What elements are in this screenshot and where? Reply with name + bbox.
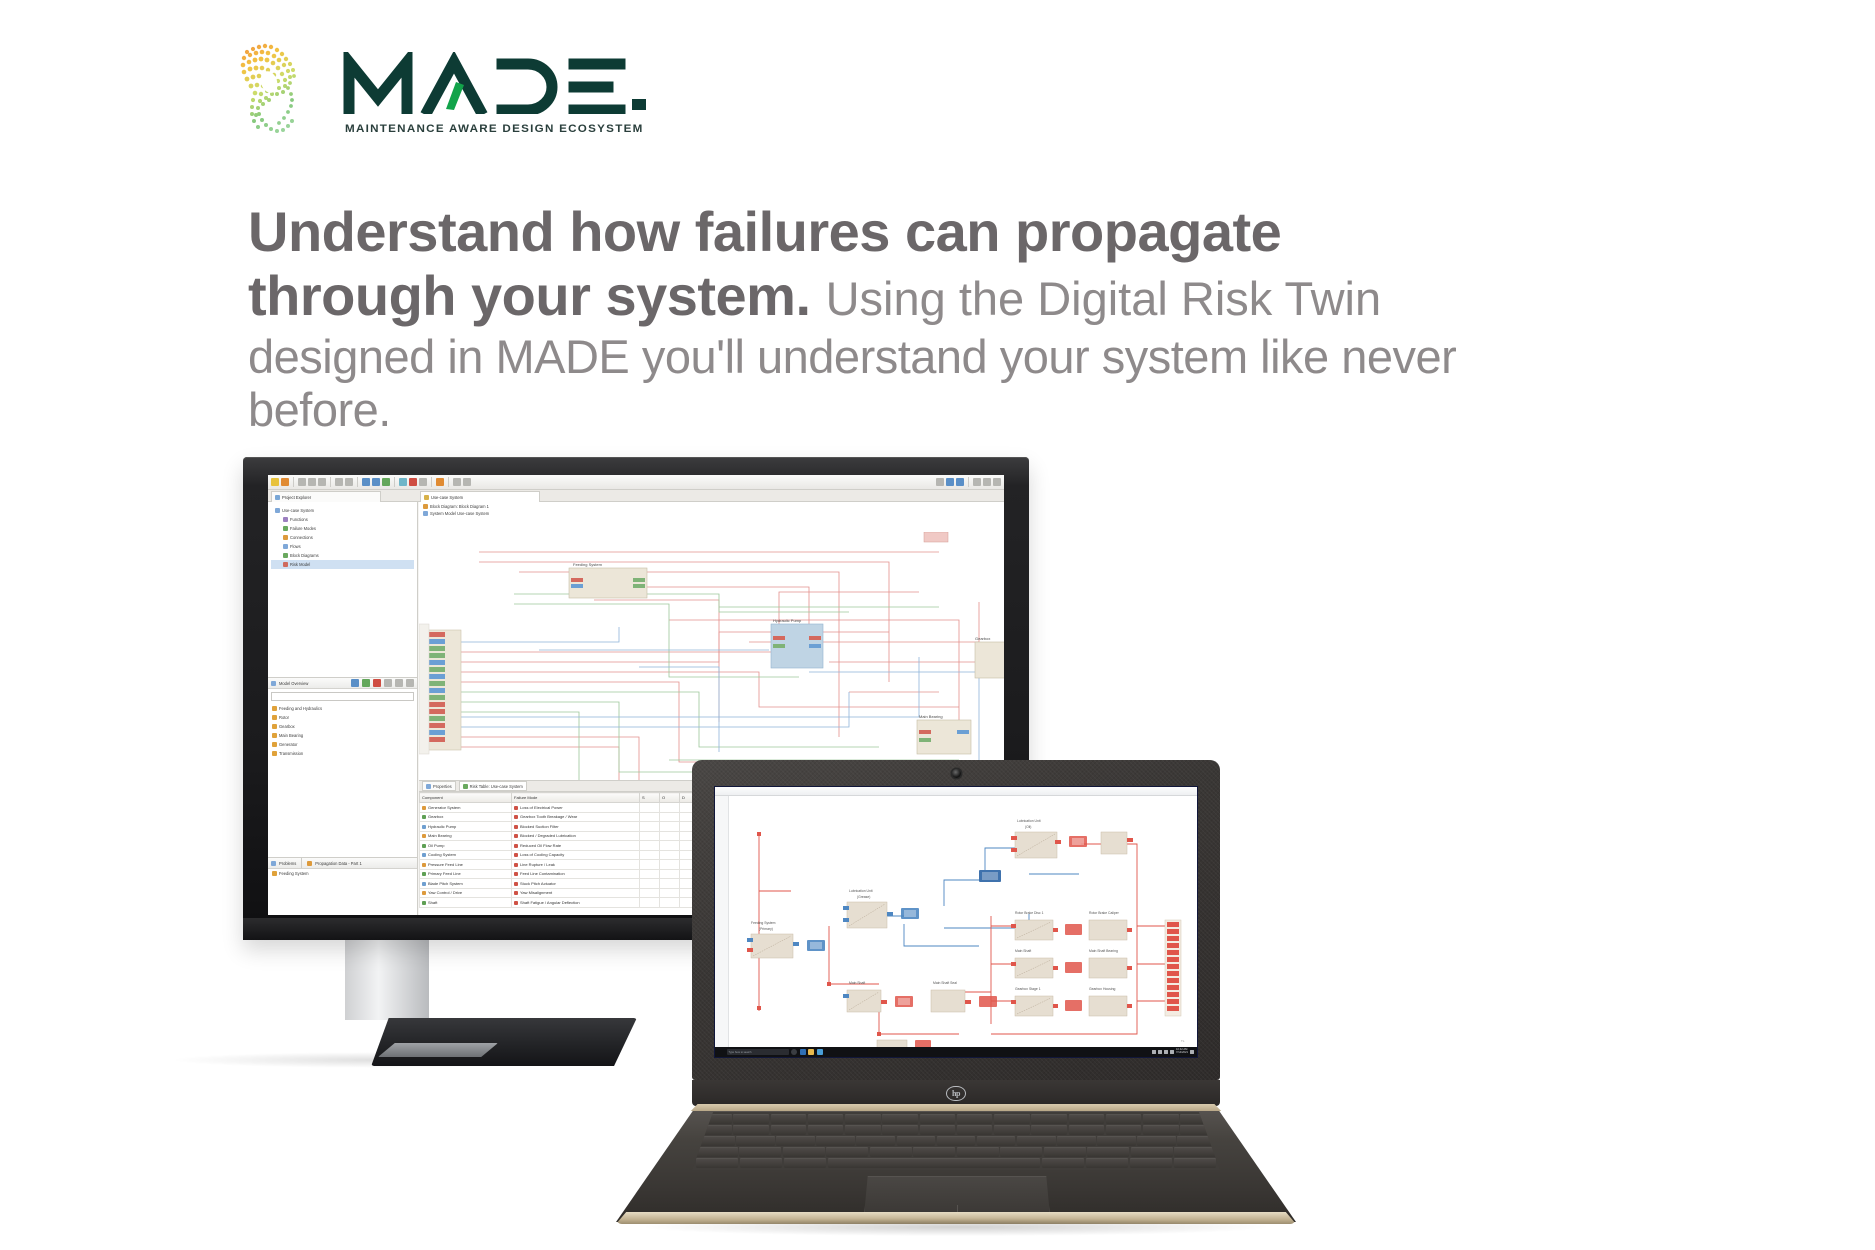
cell-component: Generator System xyxy=(420,803,512,813)
diagram-icon xyxy=(423,504,428,509)
component-icon xyxy=(422,891,426,895)
svg-text:Lubrication Unit: Lubrication Unit xyxy=(1017,819,1041,823)
failure-icon xyxy=(514,853,518,857)
problems-icon xyxy=(271,861,276,866)
folder-icon xyxy=(272,706,277,711)
warning-icon[interactable] xyxy=(436,478,444,486)
made-logo: MAINTENANCE AWARE DESIGN ECOSYSTEM xyxy=(222,30,652,145)
node-row: Main Shaft Main Shaft Bearing xyxy=(1011,949,1132,978)
node: Main Shaft xyxy=(843,981,887,1012)
cell-component: Cooling System xyxy=(420,850,512,860)
save-icon[interactable] xyxy=(281,478,289,486)
cell-component: Shaft xyxy=(420,898,512,908)
component-icon xyxy=(422,882,426,886)
layout-icon[interactable] xyxy=(351,679,359,687)
tree-item[interactable]: Flows xyxy=(271,542,414,551)
gate xyxy=(979,870,1001,882)
search-icon[interactable] xyxy=(453,478,461,486)
svg-text:Main Shaft Bearing: Main Shaft Bearing xyxy=(1089,949,1118,953)
svg-text:(Oil): (Oil) xyxy=(1025,825,1031,829)
risk-twin-app: Lubrication Unit(Oil) xyxy=(715,787,1197,1057)
toolbar-divider xyxy=(330,477,331,487)
tab-problems[interactable]: Problems xyxy=(279,861,296,866)
cortana-icon[interactable] xyxy=(791,1049,797,1055)
model-overview-header: Model Overview xyxy=(268,678,417,689)
tab-use-case-system[interactable]: Use-case System xyxy=(420,491,540,502)
list-item-label: Generator xyxy=(279,742,297,747)
svg-text:(Primary): (Primary) xyxy=(759,927,773,931)
made-gradient-leaf-mark-icon xyxy=(222,30,327,138)
component-icon xyxy=(422,853,426,857)
failure-icon xyxy=(514,901,518,905)
list-item[interactable]: Transmission xyxy=(268,749,417,758)
port-stack xyxy=(1165,920,1181,1016)
component-icon xyxy=(422,863,426,867)
laptop-screen: Lubrication Unit(Oil) xyxy=(714,786,1198,1058)
component-icon xyxy=(422,806,426,810)
action-center-icon[interactable] xyxy=(1190,1050,1194,1054)
tree-item[interactable]: Block Diagrams xyxy=(271,551,414,560)
cell-component: Blade Pitch System xyxy=(420,879,512,889)
headline-subtext-1: Using the Digital Risk Twin xyxy=(826,272,1382,325)
monitor-base-highlight xyxy=(378,1043,498,1057)
properties-footer-panel: Problems Propagation Data - Part 1 Feedi… xyxy=(268,857,417,915)
keyboard-row xyxy=(696,1158,1216,1168)
laptop-deck-top-edge xyxy=(616,1104,1296,1111)
gate xyxy=(1069,836,1087,847)
tree-item-label: Failure Modes xyxy=(290,526,316,531)
overview-icon xyxy=(271,681,276,686)
cell-component: Oil Pump xyxy=(420,841,512,851)
cell-component: Hydraulic Pump xyxy=(420,822,512,832)
add-icon[interactable] xyxy=(362,679,370,687)
folder-icon xyxy=(272,751,277,756)
redo-icon[interactable] xyxy=(318,478,326,486)
component-icon xyxy=(422,844,426,848)
component-icon xyxy=(422,872,426,876)
diagram-icon xyxy=(424,495,429,500)
node: Lubrication Unit(Grease) xyxy=(843,889,893,928)
folder-icon xyxy=(272,715,277,720)
diagram-icon xyxy=(283,553,288,558)
debug-icon[interactable] xyxy=(372,478,380,486)
block-diagram-canvas[interactable]: Feeding System Hydraulic Pump xyxy=(419,532,1004,780)
collapse-icon[interactable] xyxy=(395,679,403,687)
component-icon xyxy=(422,815,426,819)
node xyxy=(1101,832,1133,854)
gate xyxy=(807,940,825,951)
list-item-label: Feeding System xyxy=(279,871,309,876)
laptop-bezel-chin: hp xyxy=(692,1080,1220,1106)
list-item[interactable]: Main Bearing xyxy=(268,731,417,740)
keyboard-row xyxy=(696,1114,1216,1124)
failure-icon xyxy=(514,882,518,886)
ide-toolbar[interactable] xyxy=(268,475,1004,490)
monitor-base xyxy=(371,1018,637,1066)
toolbar-divider xyxy=(448,477,449,487)
tree-item-label: Block Diagrams xyxy=(290,553,319,558)
task-view-icon[interactable] xyxy=(800,1049,806,1055)
headline-line-2: through your system. xyxy=(248,264,811,327)
page-title: Understand how failures can propagate th… xyxy=(248,200,1608,437)
more-icon[interactable] xyxy=(993,478,1001,486)
risk-icon xyxy=(283,562,288,567)
laptop-shadow xyxy=(646,1218,1266,1236)
failure-icon xyxy=(283,526,288,531)
battery-icon[interactable] xyxy=(1170,1050,1174,1054)
svg-text:(Grease): (Grease) xyxy=(857,895,870,899)
cell-component: Pressure Feed Line xyxy=(420,860,512,870)
made-tagline: MAINTENANCE AWARE DESIGN ECOSYSTEM xyxy=(345,123,644,135)
keyboard-row xyxy=(696,1136,1216,1146)
layout-icon[interactable] xyxy=(946,478,954,486)
project-explorer-panel: Use-case System Functions Failure Modes xyxy=(268,502,418,915)
breadcrumb-row: System Model Use-case System xyxy=(423,511,1000,516)
toolbar-divider xyxy=(357,477,358,487)
svg-text:Main Shaft: Main Shaft xyxy=(1015,949,1031,953)
list-item-label: Transmission xyxy=(279,751,303,756)
folder-icon xyxy=(272,733,277,738)
breadcrumb: Block Diagram: Block Diagram 1 System Mo… xyxy=(419,502,1004,518)
link-icon[interactable] xyxy=(384,679,392,687)
app-toolbar[interactable] xyxy=(715,787,1197,796)
project-tree: Use-case System Functions Failure Modes xyxy=(268,502,417,573)
breadcrumb-row: Block Diagram: Block Diagram 1 xyxy=(423,504,1000,509)
list-item-label: Feeding and Hydraulics xyxy=(279,706,322,711)
list-item[interactable]: Gearbox xyxy=(268,722,417,731)
perspective-icon[interactable] xyxy=(936,478,944,486)
run-icon[interactable] xyxy=(382,478,390,486)
svg-text:Gearbox Stage 1: Gearbox Stage 1 xyxy=(1015,987,1041,991)
propagation-diagram-canvas[interactable]: Lubrication Unit(Oil) xyxy=(729,796,1197,1047)
model-overview-panel: Model Overview Feeding and xyxy=(268,677,417,857)
made-wordmark xyxy=(342,52,652,114)
toolbar-divider xyxy=(968,477,969,487)
spacebar-key xyxy=(828,1158,1040,1168)
folder-icon xyxy=(272,742,277,747)
stop-icon[interactable] xyxy=(409,478,417,486)
tree-item-label: Flows xyxy=(290,544,301,549)
svg-text:Main Shaft: Main Shaft xyxy=(849,981,865,985)
cell-component: Main Bearing xyxy=(420,831,512,841)
delete-icon[interactable] xyxy=(373,679,381,687)
list-item[interactable]: Feeding and Hydraulics xyxy=(268,704,417,713)
failure-icon xyxy=(514,872,518,876)
gate xyxy=(895,996,913,1007)
node xyxy=(877,1040,931,1047)
hp-logo-icon: hp xyxy=(946,1086,966,1101)
chevron-up-icon[interactable] xyxy=(1152,1050,1156,1054)
svg-text:Rotor Brake Caliper: Rotor Brake Caliper xyxy=(1089,911,1120,915)
function-icon xyxy=(283,517,288,522)
svg-text:Main Shaft Seal: Main Shaft Seal xyxy=(933,981,957,985)
component-icon xyxy=(422,825,426,829)
tab-label: Use-case System xyxy=(431,495,463,500)
slide-root: MAINTENANCE AWARE DESIGN ECOSYSTEM Under… xyxy=(0,0,1875,1250)
failure-icon xyxy=(514,834,518,838)
cell-component: Primary Feed Line xyxy=(420,869,512,879)
grid-icon[interactable] xyxy=(983,478,991,486)
tree-item-label: Connections xyxy=(290,535,313,540)
laptop-keyboard[interactable] xyxy=(692,1112,1220,1170)
failure-icon xyxy=(514,825,518,829)
properties-icon xyxy=(426,784,431,789)
breadcrumb-label: Block Diagram: Block Diagram 1 xyxy=(430,504,489,509)
keyboard-row xyxy=(696,1147,1216,1157)
toolbar-divider xyxy=(431,477,432,487)
list-item-label: Rotor xyxy=(279,715,289,720)
filter-icon[interactable] xyxy=(973,478,981,486)
svg-text:Rotor Brake Disc 1: Rotor Brake Disc 1 xyxy=(1015,911,1044,915)
node: Feeding System(Primary) xyxy=(747,921,799,958)
headline-subtext-2: designed in MADE you'll understand your … xyxy=(248,330,1608,437)
svg-text:Gearbox Housing: Gearbox Housing xyxy=(1089,987,1116,991)
tree-item[interactable]: Functions xyxy=(271,515,414,524)
node-label: Feeding System xyxy=(573,562,603,567)
zoom-icon[interactable] xyxy=(956,478,964,486)
failure-icon xyxy=(514,806,518,810)
list-item-label: Gearbox xyxy=(279,724,295,729)
tree-item[interactable]: Failure Modes xyxy=(271,524,414,533)
volume-icon[interactable] xyxy=(1164,1050,1168,1054)
node-label: Hydraulic Pump xyxy=(773,618,802,623)
laptop-lid: Lubrication Unit(Oil) xyxy=(692,760,1220,1080)
folder-icon xyxy=(272,724,277,729)
footer-tabbar: Problems Propagation Data - Part 1 xyxy=(268,858,417,869)
svg-text:TL: TL xyxy=(1181,1039,1185,1043)
model-overview-search-input[interactable] xyxy=(271,692,414,701)
tree-item-label: Use-case System xyxy=(282,508,314,513)
tree-item-risk-model[interactable]: Risk Model xyxy=(271,560,414,569)
tab-label: Properties xyxy=(433,784,452,789)
cell-component: Gearbox xyxy=(420,812,512,822)
ide-tab-row: Project Explorer Use-case System xyxy=(268,490,1004,502)
hp-laptop: Lubrication Unit(Oil) xyxy=(606,760,1306,1250)
taskbar-search-input[interactable]: Type here to search xyxy=(727,1049,789,1056)
laptop-trackpad[interactable] xyxy=(864,1176,1050,1216)
menu-icon[interactable] xyxy=(406,679,414,687)
network-icon[interactable] xyxy=(1158,1050,1162,1054)
propagation-icon xyxy=(307,861,312,866)
webcam-icon xyxy=(952,769,961,778)
undo-icon[interactable] xyxy=(308,478,316,486)
table-icon xyxy=(463,784,468,789)
keyboard-row xyxy=(696,1125,1216,1135)
tree-item-label: Risk Model xyxy=(290,562,310,567)
model-icon xyxy=(423,511,428,516)
svg-text:Lubrication Unit: Lubrication Unit xyxy=(849,889,873,893)
tree-item-label: Functions xyxy=(290,517,308,522)
taskbar-tray[interactable]: 10:42 AM 7/14/2021 xyxy=(1152,1049,1194,1055)
taskbar-date[interactable]: 7/14/2021 xyxy=(1176,1052,1188,1055)
toolbar-divider xyxy=(394,477,395,487)
flow-icon xyxy=(283,544,288,549)
list-item[interactable]: Feeding System xyxy=(268,869,417,878)
print-icon[interactable] xyxy=(298,478,306,486)
svg-text:Feeding System: Feeding System xyxy=(751,921,776,925)
column-header-component[interactable]: Component xyxy=(420,793,512,803)
tree-item[interactable]: Use-case System xyxy=(271,506,414,515)
marker-icon[interactable] xyxy=(419,478,427,486)
node-label: Gearbox xyxy=(975,636,990,641)
build-icon[interactable] xyxy=(362,478,370,486)
cell-component: Yaw Control / Drive xyxy=(420,888,512,898)
store-icon[interactable] xyxy=(817,1049,823,1055)
panel-title: Model Overview xyxy=(279,681,308,686)
copy-icon[interactable] xyxy=(345,478,353,486)
failure-icon xyxy=(514,815,518,819)
chevron-down-icon[interactable] xyxy=(463,478,471,486)
refresh-icon[interactable] xyxy=(399,478,407,486)
app-sidebar[interactable] xyxy=(715,796,729,1047)
headline-line-1: Understand how failures can propagate xyxy=(248,200,1281,263)
breadcrumb-label: System Model Use-case System xyxy=(430,511,489,516)
tab-properties[interactable]: Properties xyxy=(422,781,456,791)
tab-project-explorer[interactable]: Project Explorer xyxy=(271,491,381,502)
gate xyxy=(901,908,919,919)
windows-start-icon[interactable] xyxy=(718,1049,724,1055)
failure-icon xyxy=(514,863,518,867)
list-item[interactable]: Rotor xyxy=(268,713,417,722)
tab-propagation-data[interactable]: Propagation Data - Part 1 xyxy=(315,861,361,866)
project-icon xyxy=(275,508,280,513)
windows-taskbar[interactable]: Type here to search 10:42 AM xyxy=(715,1047,1197,1057)
explorer-icon xyxy=(275,495,280,500)
new-icon[interactable] xyxy=(271,478,279,486)
component-icon xyxy=(422,834,426,838)
tab-risk-table[interactable]: Risk Table: Use-case System xyxy=(459,781,527,791)
connection-icon xyxy=(283,535,288,540)
node-label: Main Bearing xyxy=(919,714,943,719)
explorer-icon[interactable] xyxy=(808,1049,814,1055)
list-item-label: Main Bearing xyxy=(279,733,303,738)
tab-label: Project Explorer xyxy=(282,495,311,500)
tab-label: Risk Table: Use-case System xyxy=(470,784,523,789)
tree-item[interactable]: Connections xyxy=(271,533,414,542)
list-item[interactable]: Generator xyxy=(268,740,417,749)
cut-icon[interactable] xyxy=(335,478,343,486)
gate xyxy=(979,996,997,1007)
monitor-neck xyxy=(345,940,429,1020)
search-placeholder: Type here to search xyxy=(729,1051,752,1054)
toolbar-divider xyxy=(293,477,294,487)
node-row: Gearbox Stage 1 Gearbox Housing xyxy=(1011,987,1132,1016)
failure-icon xyxy=(514,844,518,848)
component-icon xyxy=(422,901,426,905)
node: Main Shaft Seal xyxy=(931,981,971,1012)
failure-icon xyxy=(514,891,518,895)
connection-icon xyxy=(272,871,277,876)
node: Lubrication Unit(Oil) xyxy=(1011,819,1061,858)
